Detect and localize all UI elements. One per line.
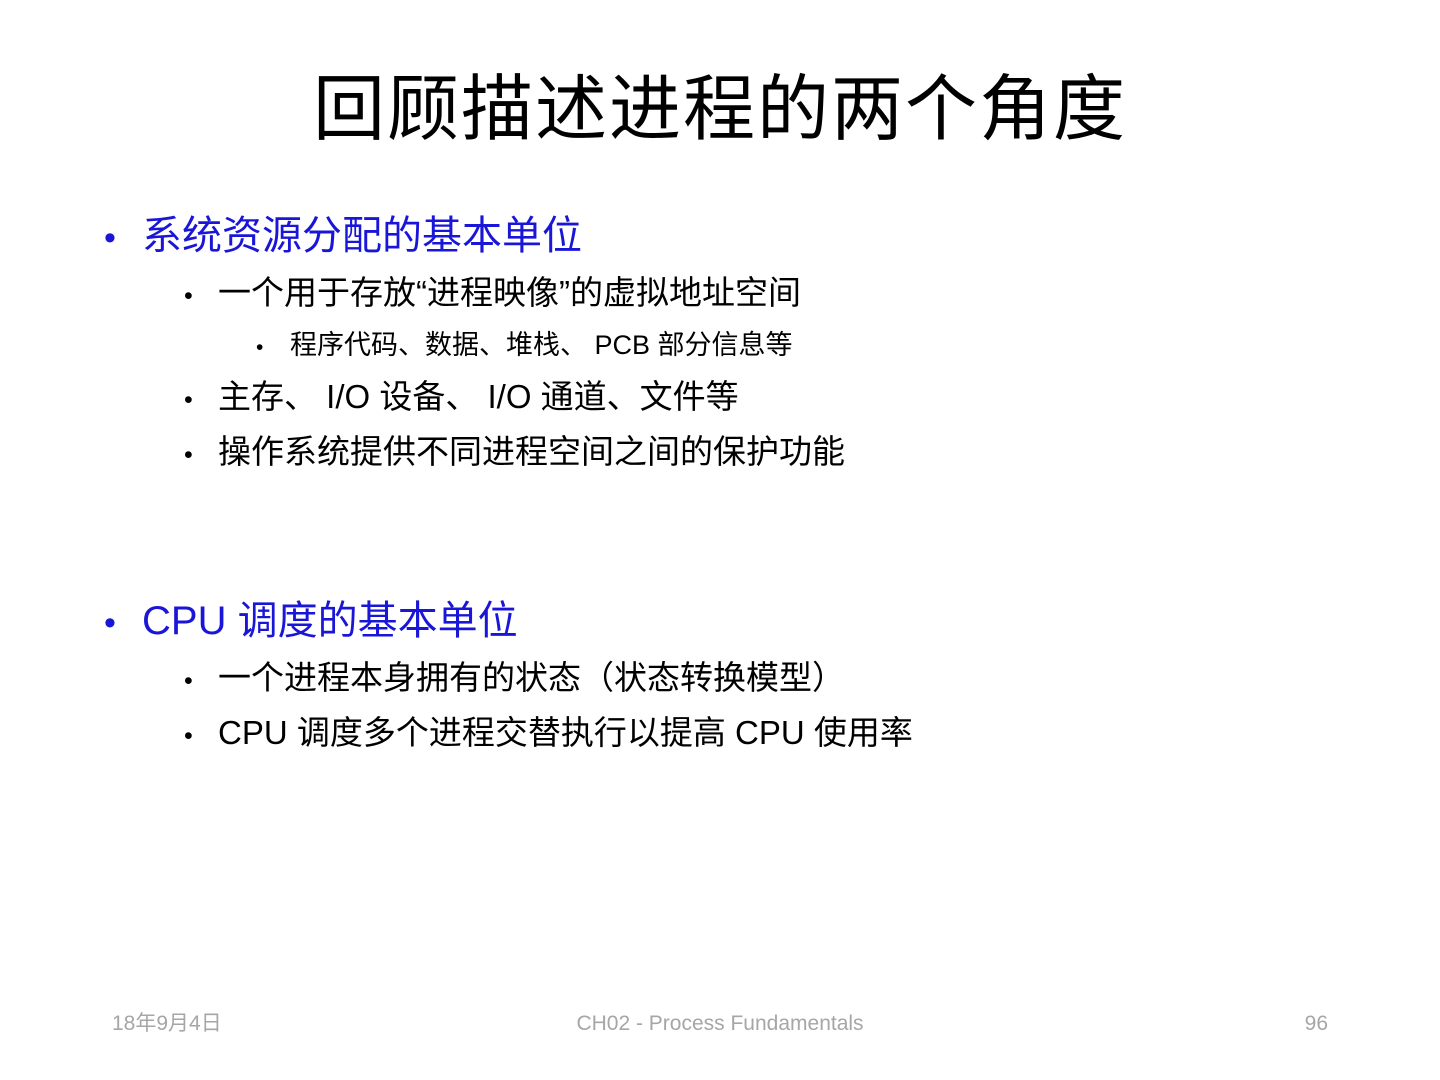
blank-line	[104, 481, 1364, 593]
bullet-icon: •	[184, 375, 218, 426]
footer-date: 18年9月4日	[112, 1010, 222, 1038]
list-item: • 操作系统提供不同进程空间之间的保护功能	[104, 426, 1364, 481]
list-item-label: 程序代码、数据、堆栈、 PCB 部分信息等	[290, 322, 793, 368]
bullet-icon: •	[256, 325, 290, 371]
list-item-label: 系统资源分配的基本单位	[142, 208, 582, 265]
bullet-icon: •	[104, 210, 142, 267]
list-item: • 程序代码、数据、堆栈、 PCB 部分信息等	[104, 322, 1364, 371]
bullet-icon: •	[104, 595, 142, 652]
list-item-label: 操作系统提供不同进程空间之间的保护功能	[218, 426, 845, 477]
bullet-list: • 系统资源分配的基本单位 • 一个用于存放“进程映像”的虚拟地址空间 • 程序…	[104, 208, 1364, 762]
bullet-icon: •	[184, 656, 218, 707]
list-item-label: 一个进程本身拥有的状态（状态转换模型）	[218, 652, 845, 703]
footer-page-number: 96	[1305, 1010, 1328, 1038]
bullet-icon: •	[184, 430, 218, 481]
list-item: • CPU 调度的基本单位	[104, 593, 1364, 652]
list-item-label: 一个用于存放“进程映像”的虚拟地址空间	[218, 267, 801, 318]
slide-footer: 18年9月4日 CH02 - Process Fundamentals 96	[0, 1010, 1440, 1054]
list-item: • 系统资源分配的基本单位	[104, 208, 1364, 267]
page-title: 回顾描述进程的两个角度	[72, 62, 1368, 158]
list-item-label: CPU 调度多个进程交替执行以提高 CPU 使用率	[218, 707, 913, 758]
presentation-slide: 回顾描述进程的两个角度 • 系统资源分配的基本单位 • 一个用于存放“进程映像”…	[0, 0, 1440, 1080]
list-item: • 一个进程本身拥有的状态（状态转换模型）	[104, 652, 1364, 707]
bullet-icon: •	[184, 271, 218, 322]
list-item: • CPU 调度多个进程交替执行以提高 CPU 使用率	[104, 707, 1364, 762]
list-item-label: 主存、 I/O 设备、 I/O 通道、文件等	[218, 371, 739, 422]
list-item: • 一个用于存放“进程映像”的虚拟地址空间	[104, 267, 1364, 322]
footer-chapter-label: CH02 - Process Fundamentals	[420, 1010, 1020, 1038]
list-item-label: CPU 调度的基本单位	[142, 593, 518, 650]
list-item: • 主存、 I/O 设备、 I/O 通道、文件等	[104, 371, 1364, 426]
bullet-icon: •	[184, 711, 218, 762]
